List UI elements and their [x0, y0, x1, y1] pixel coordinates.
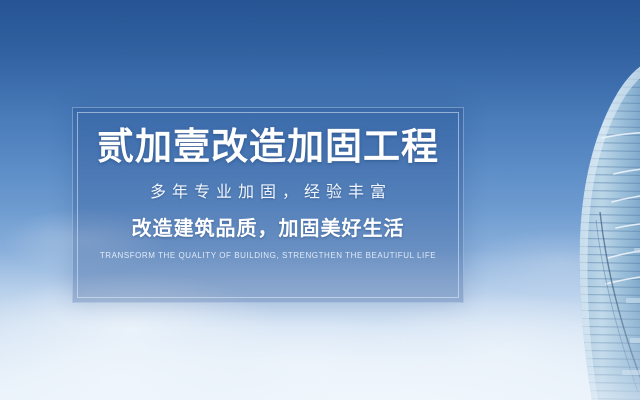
banner-english-tagline: TRANSFORM THE QUALITY OF BUILDING, STREN…: [100, 252, 436, 260]
banner-headline: 贰加壹改造加固工程: [97, 128, 439, 165]
text-panel: 贰加壹改造加固工程 多年专业加固，经验丰富 改造建筑品质，加固美好生活 TRAN…: [72, 107, 464, 303]
banner-subline: 多年专业加固，经验丰富: [144, 185, 392, 201]
banner-tagline: 改造建筑品质，加固美好生活: [132, 219, 405, 239]
skyscraper-photo: [556, 52, 640, 400]
skyscraper-icon: [556, 52, 640, 400]
panel-content: 贰加壹改造加固工程 多年专业加固，经验丰富 改造建筑品质，加固美好生活 TRAN…: [72, 107, 464, 303]
sky-top-shading: [0, 0, 640, 120]
hero-banner: 贰加壹改造加固工程 多年专业加固，经验丰富 改造建筑品质，加固美好生活 TRAN…: [0, 0, 640, 400]
